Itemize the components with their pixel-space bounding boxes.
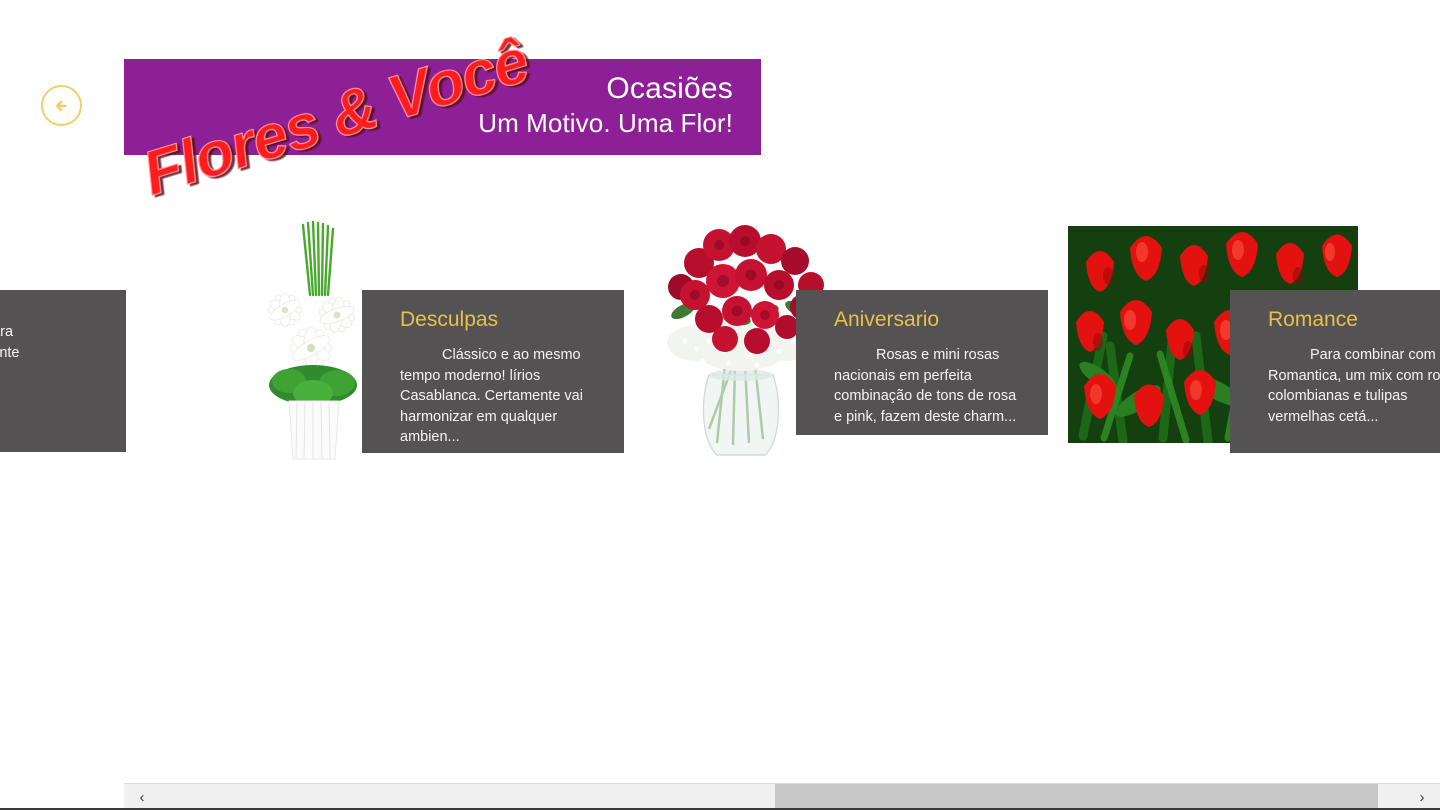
white-lilies-photo <box>255 215 375 465</box>
horizontal-scrollbar[interactable]: ‹ › <box>124 783 1440 810</box>
list-item-title: Aniversario <box>834 308 1026 331</box>
banner-title-group: Ocasiões Um Motivo. Uma Flor! <box>478 71 733 139</box>
list-item-title: Desculpas <box>400 308 602 331</box>
page-title: Ocasiões <box>478 71 733 106</box>
app-root: Flores & Você Ocasiões Um Motivo. Uma Fl… <box>0 0 1440 810</box>
back-button[interactable] <box>41 85 82 126</box>
list-item-card[interactable]: Desculpas Clássico e ao mesmo tempo mode… <box>362 290 624 453</box>
items-strip[interactable]: para sente <box>0 210 1440 480</box>
list-item-title: Romance <box>1268 308 1440 331</box>
list-item-description-line1: para <box>0 322 104 343</box>
list-item-card[interactable]: para sente <box>0 290 126 452</box>
brand-logo: Flores & Você <box>134 63 494 193</box>
scroll-right-arrow-icon[interactable]: › <box>1404 784 1440 810</box>
list-item-description: Clássico e ao mesmo tempo moderno! lírio… <box>400 345 602 448</box>
svg-text:Flores & Você: Flores & Você <box>135 26 536 208</box>
list-item-description: Para combinar com uma Romantica, um mix … <box>1268 345 1440 427</box>
scrollbar-track[interactable] <box>160 784 1404 810</box>
header-banner: Flores & Você Ocasiões Um Motivo. Uma Fl… <box>124 59 761 155</box>
list-item-card[interactable]: Aniversario Rosas e mini rosas nacionais… <box>796 290 1048 435</box>
page-subtitle: Um Motivo. Uma Flor! <box>478 108 733 139</box>
scrollbar-thumb[interactable] <box>775 784 1378 810</box>
list-item-description-line2: sente <box>0 343 104 364</box>
arrow-left-circle-icon <box>51 95 73 117</box>
list-item-card[interactable]: Romance Para combinar com uma Romantica,… <box>1230 290 1440 453</box>
list-item-description: Rosas e mini rosas nacionais em perfeita… <box>834 345 1026 427</box>
scroll-left-arrow-icon[interactable]: ‹ <box>124 784 160 810</box>
